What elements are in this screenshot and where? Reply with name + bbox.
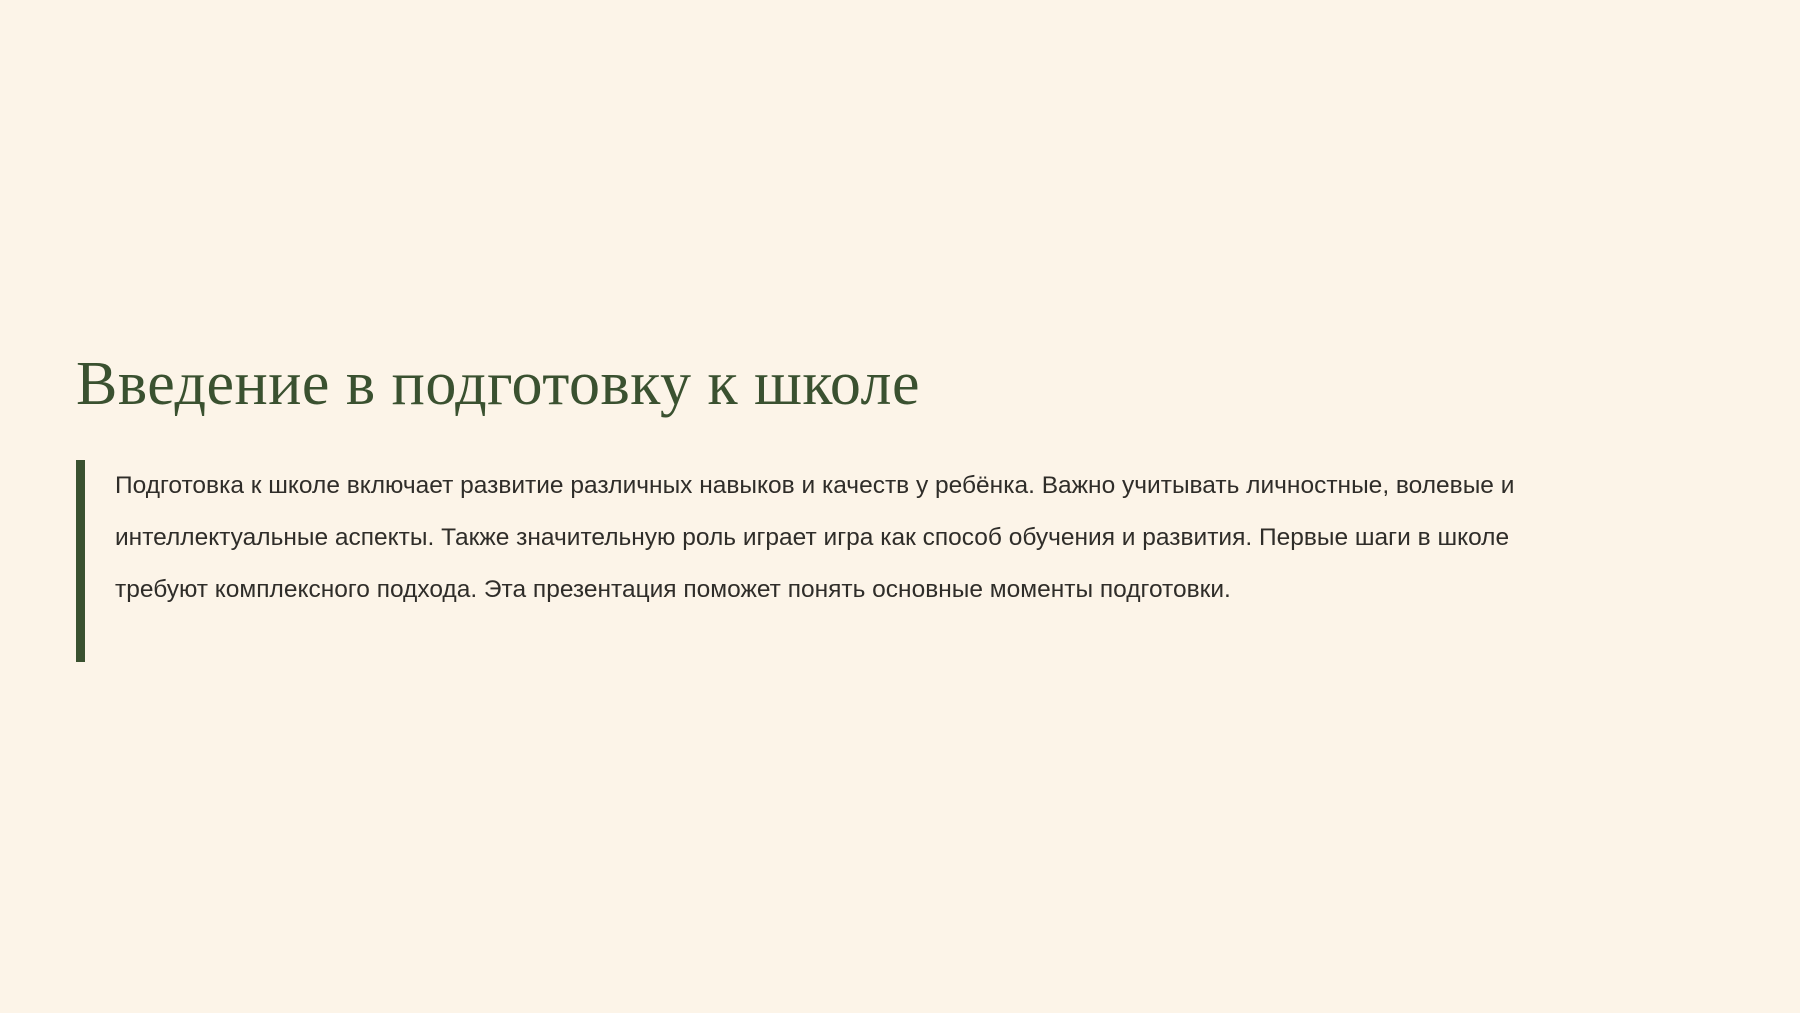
accent-bar [76,460,85,662]
body-text-block: Подготовка к школе включает развитие раз… [76,460,1536,616]
slide-content: Введение в подготовку к школе Подготовка… [76,352,1536,616]
slide-title: Введение в подготовку к школе [76,352,1536,418]
slide-body-paragraph: Подготовка к школе включает развитие раз… [115,460,1536,616]
presentation-slide: Введение в подготовку к школе Подготовка… [0,0,1800,1013]
